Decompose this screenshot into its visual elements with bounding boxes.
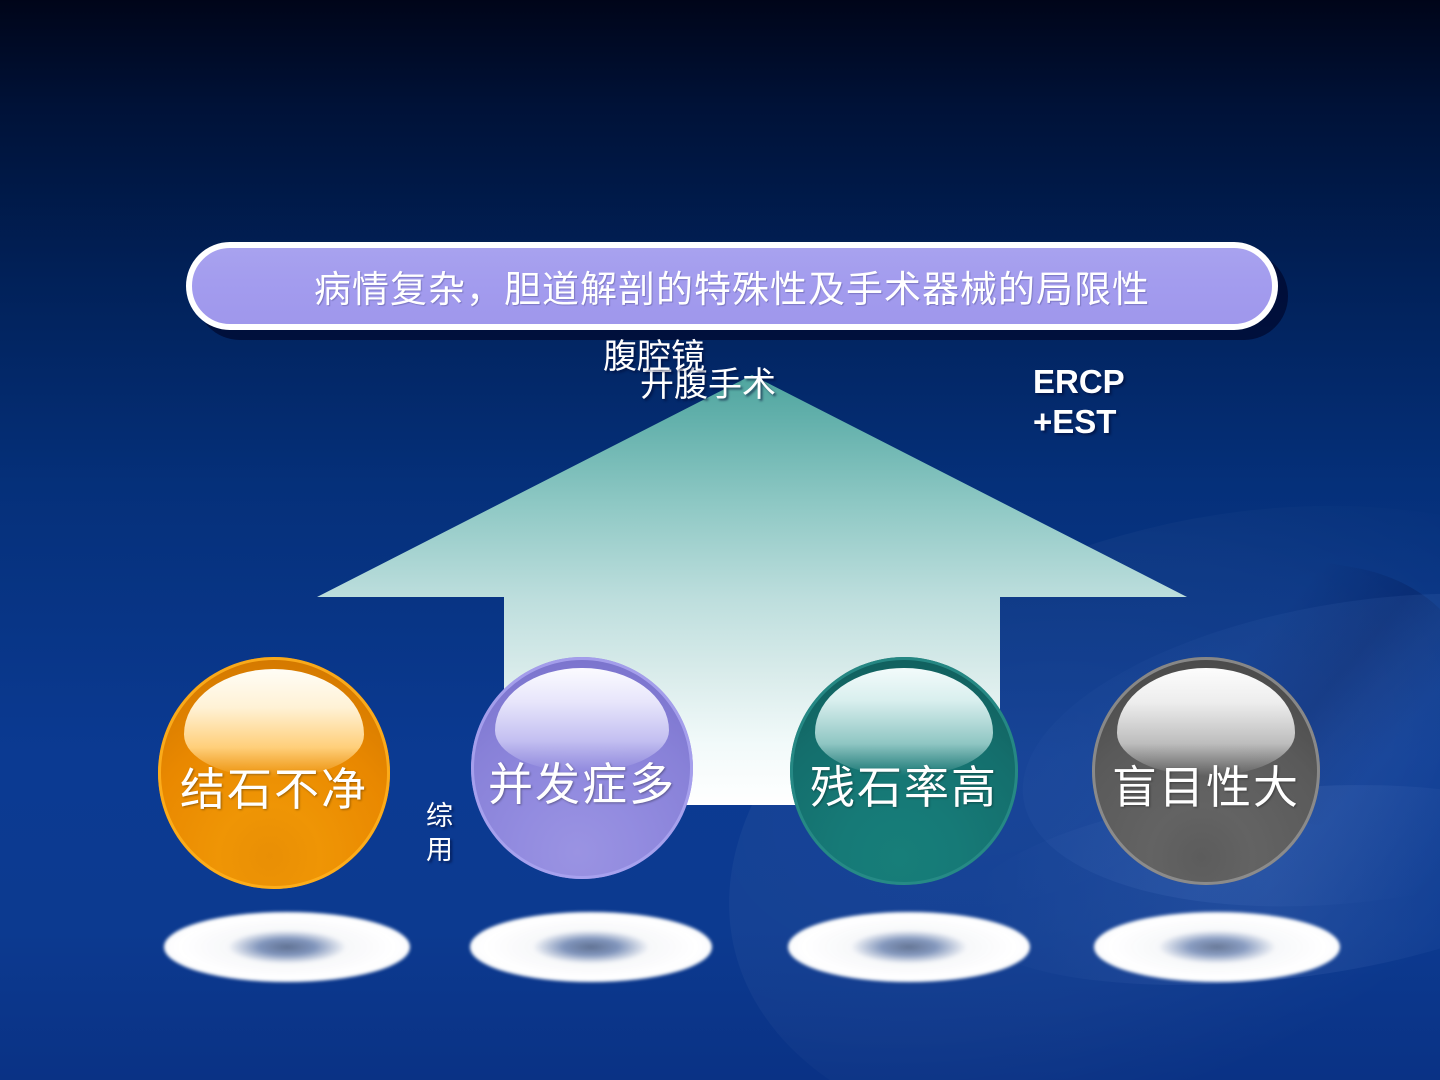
sphere-stones-not-clear: 结石不净 [158,657,390,889]
label-comprehensive: 综 用 [426,800,453,868]
sphere-pedestal [470,912,712,982]
sphere-many-complications: 并发症多 [471,657,693,879]
sphere-high-blindness: 盲目性大 [1092,657,1320,885]
title-text: 病情复杂，胆道解剖的特殊性及手术器械的局限性 [314,259,1150,313]
sphere-pedestal [164,912,410,982]
sphere-pedestal [1094,912,1340,982]
title-banner: 病情复杂，胆道解剖的特殊性及手术器械的局限性 [186,242,1278,330]
sphere-label: 结石不净 [180,753,368,818]
sphere-label: 盲目性大 [1112,751,1300,816]
sphere-label: 残石率高 [810,751,998,816]
sphere-high-residual-rate: 残石率高 [790,657,1018,885]
slide-canvas: 病情复杂，胆道解剖的特殊性及手术器械的局限性 腹腔镜 开腹手术 ERCP +ES… [0,0,1440,1080]
sphere-label: 并发症多 [488,748,676,813]
sphere-pedestal [788,912,1030,982]
label-laparoscopy: 腹腔镜 [603,340,705,377]
label-ercp-est: ERCP +EST [1033,362,1125,443]
